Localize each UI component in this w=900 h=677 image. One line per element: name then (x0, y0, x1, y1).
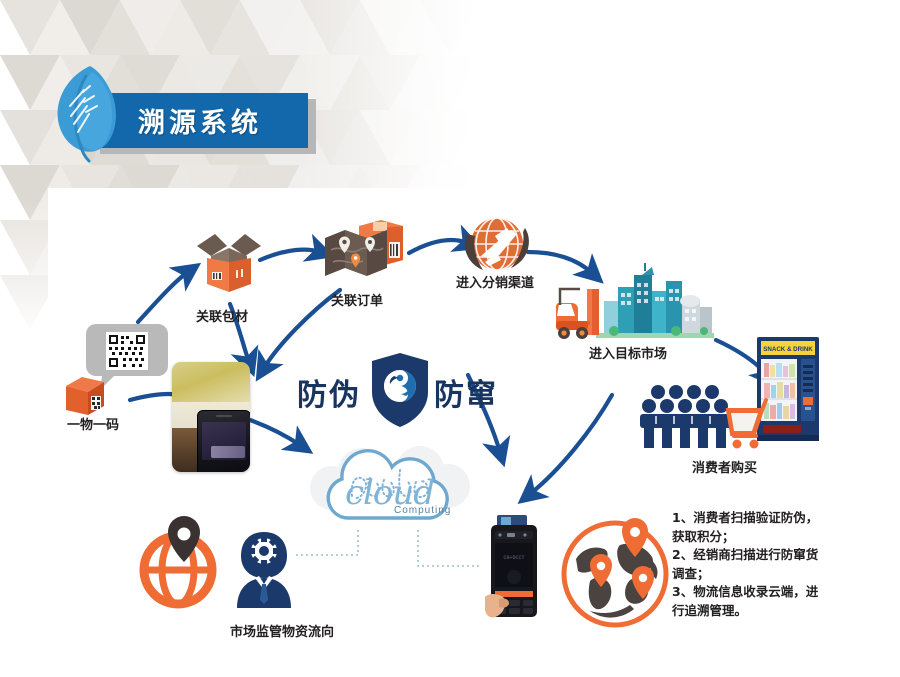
label-enter-target-market: 进入目标市场 (589, 343, 667, 362)
globe-plane-icon (461, 214, 533, 276)
qr-box-icon (62, 320, 172, 415)
bullet-line-2: 获取积分； (672, 528, 872, 547)
bullet-notes: 1、消费者扫描验证防伪， 获取积分； 2、经销商扫描进行防窜货 调查； 3、物流… (672, 509, 872, 620)
label-link-packaging: 关联包材 (196, 306, 248, 325)
photo-phone-speaker (216, 415, 232, 417)
node-enter-distribution[interactable] (461, 214, 533, 276)
cloud-sub-text: Computing (394, 505, 451, 516)
bullet-line-3: 2、经销商扫描进行防窜货 (672, 546, 872, 565)
slide-canvas: 溯源系统 (0, 0, 900, 677)
label-enter-distribution: 进入分销渠道 (456, 272, 534, 291)
node-one-item-one-code[interactable] (62, 320, 172, 415)
globe-pins-icon-wrap (560, 519, 670, 629)
map-parcel-icon (323, 216, 409, 288)
pda-scanner-device[interactable]: CR+DCCT (485, 515, 547, 635)
node-enter-target-market[interactable] (556, 263, 716, 345)
globe-location-pins-icon (560, 519, 670, 629)
bullet-line-1: 1、消费者扫描验证防伪， (672, 509, 872, 528)
center-word-left: 防伪 (297, 370, 361, 414)
bullet-line-5: 3、物流信息收录云端，进 (672, 583, 872, 602)
page-title: 溯源系统 (92, 93, 308, 148)
center-word-right: 防窜 (434, 370, 498, 414)
node-link-packaging[interactable] (193, 232, 265, 294)
pda-scanner-icon: CR+DCCT (485, 515, 547, 635)
open-carton-icon (193, 232, 265, 294)
crowd-cart-icon (636, 382, 766, 450)
globe-pin-icon (138, 528, 218, 608)
officer-gear-icon (225, 528, 303, 608)
label-link-order: 关联订单 (331, 290, 383, 309)
bullet-line-6: 行追溯管理。 (672, 602, 872, 621)
photo-phone-screen (202, 422, 246, 460)
photo-phone-body (197, 410, 250, 472)
label-one-item-one-code: 一物一码 (67, 414, 119, 433)
forklift-city-icon (556, 263, 716, 345)
pda-screen-text: CR+DCCT (503, 555, 524, 561)
globe-pin-icon-wrap (138, 528, 218, 608)
product-scan-photo (172, 362, 250, 472)
bullet-line-4: 调查； (672, 565, 872, 584)
label-market-supervision: 市场监管物资流向 (230, 621, 334, 640)
officer-icon-wrap (225, 528, 303, 608)
shield-emblem (369, 352, 431, 428)
vending-sign-text: SNACK & DRINK (763, 346, 813, 353)
shield-yinyang-icon (369, 352, 431, 428)
node-link-order[interactable] (323, 216, 409, 288)
photo-phone-screen-content (211, 446, 245, 458)
label-consumer-purchase: 消费者购买 (692, 457, 757, 476)
node-consumer-purchase[interactable] (636, 382, 766, 450)
